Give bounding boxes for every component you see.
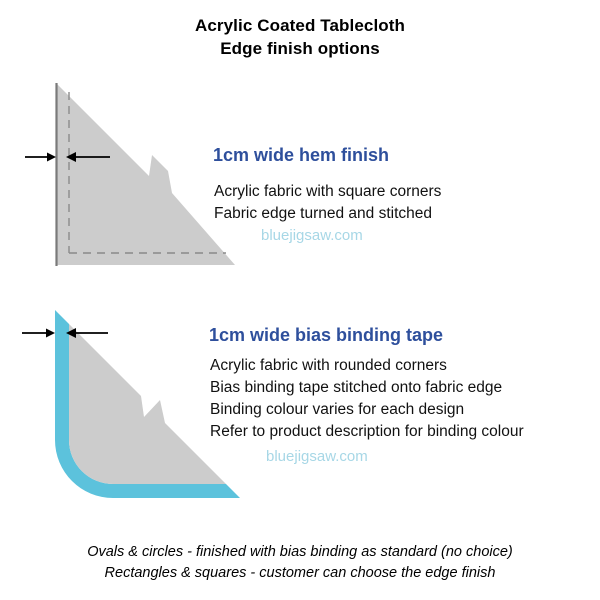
watermark-bias-binding: bluejigsaw.com <box>266 448 368 465</box>
footer-note: Ovals & circles - finished with bias bin… <box>0 542 600 584</box>
edge-finish-options-infographic: Acrylic Coated Tablecloth Edge finish op… <box>0 0 600 600</box>
section-body-bias-binding: Acrylic fabric with rounded corners Bias… <box>210 355 524 443</box>
footer-line-1: Ovals & circles - finished with bias bin… <box>0 542 600 563</box>
bias-binding-line-2: Bias binding tape stitched onto fabric e… <box>210 377 524 399</box>
binding-measure-arrow-left <box>22 329 55 338</box>
bias-binding-line-1: Acrylic fabric with rounded corners <box>210 355 524 377</box>
bias-binding-line-3: Binding colour varies for each design <box>210 399 524 421</box>
bias-binding-line-4: Refer to product description for binding… <box>210 421 524 443</box>
fabric-shape-rounded-corner <box>69 324 226 484</box>
section-heading-bias-binding: 1cm wide bias binding tape <box>209 325 443 346</box>
rounded-corner-fabric-diagram <box>0 0 600 600</box>
footer-line-2: Rectangles & squares - customer can choo… <box>0 563 600 584</box>
